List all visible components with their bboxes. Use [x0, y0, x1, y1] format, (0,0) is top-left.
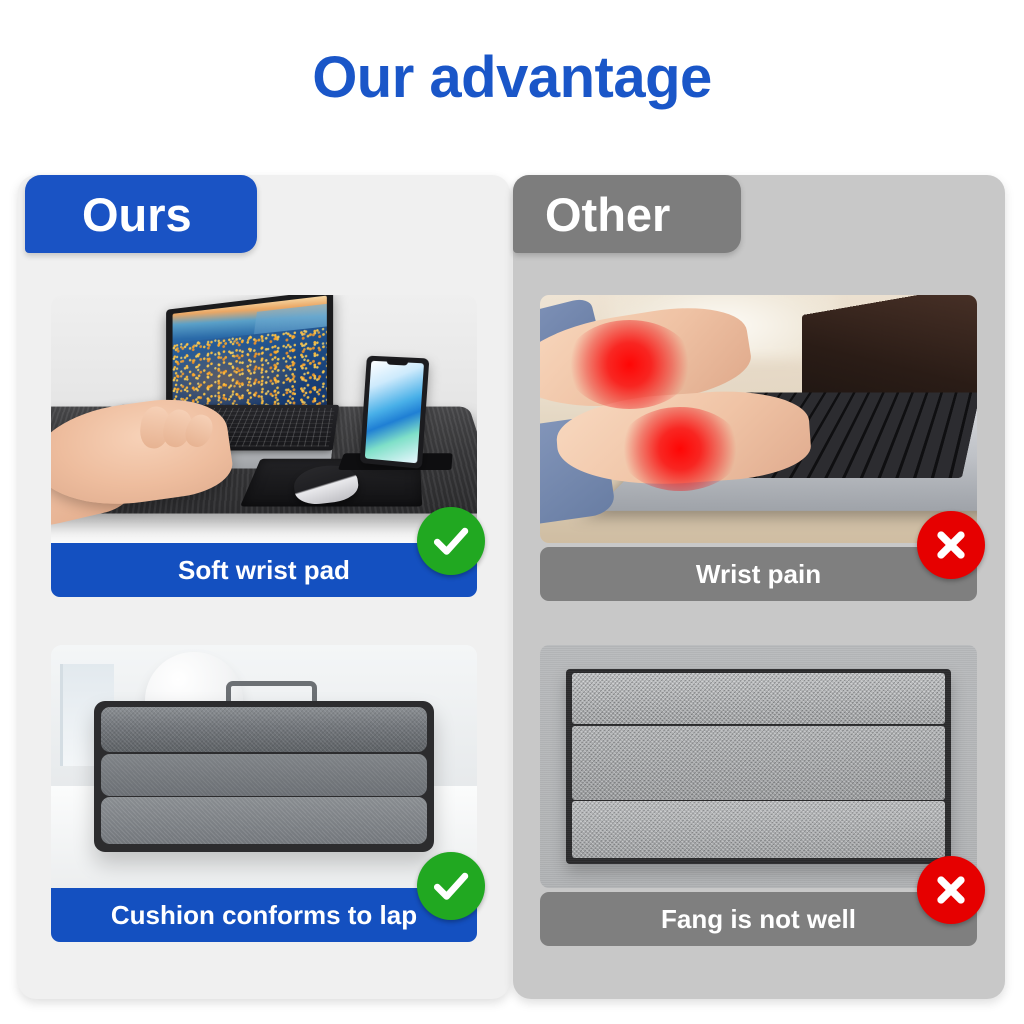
check-icon	[417, 507, 485, 575]
phone-screen	[365, 361, 424, 463]
badge-ours: Ours	[25, 175, 257, 253]
badge-other-label: Other	[545, 187, 670, 242]
card-other-fang-is-not-well[interactable]: Fang is not well	[540, 645, 977, 946]
cushion-pad-body	[94, 701, 435, 852]
caption-label: Soft wrist pad	[178, 555, 350, 586]
caption-label: Cushion conforms to lap	[111, 900, 417, 931]
photo-grain-overlay	[540, 645, 977, 888]
card-ours-cushion-conforms[interactable]: Cushion conforms to lap	[51, 645, 477, 942]
plain-grey-lap-pad-photo	[540, 645, 977, 888]
comparison-section: Ours	[18, 175, 1006, 999]
badge-other: Other	[513, 175, 741, 253]
cushion-roll-top	[101, 707, 427, 752]
phone-in-holder	[360, 356, 430, 469]
pain-highlight-icon	[566, 320, 693, 409]
caption-label: Fang is not well	[661, 904, 856, 935]
cushion-roll-middle	[101, 754, 427, 796]
cross-icon	[917, 856, 985, 924]
cushion-roll-bottom	[101, 797, 427, 844]
badge-ours-label: Ours	[82, 187, 192, 242]
wrist-pain-typing-photo	[540, 295, 977, 543]
card-ours-soft-wrist-pad[interactable]: Soft wrist pad	[51, 295, 477, 597]
phone-notch	[387, 359, 409, 365]
laptop-screen	[172, 295, 326, 417]
panel-ours: Ours	[18, 175, 510, 999]
pain-highlight-icon	[619, 407, 741, 491]
caption-bar-cushion-conforms: Cushion conforms to lap	[51, 888, 477, 942]
grey-cushion-lap-desk-photo	[51, 645, 477, 888]
caption-label: Wrist pain	[696, 559, 821, 590]
check-icon	[417, 852, 485, 920]
caption-bar-fang-is-not-well: Fang is not well	[540, 892, 977, 946]
caption-bar-soft-wrist-pad: Soft wrist pad	[51, 543, 477, 597]
page-title: Our advantage	[0, 46, 1024, 111]
card-other-wrist-pain[interactable]: Wrist pain	[540, 295, 977, 601]
panel-other: Other Wrist pain	[513, 175, 1005, 999]
caption-bar-wrist-pain: Wrist pain	[540, 547, 977, 601]
cross-icon	[917, 511, 985, 579]
lap-desk-with-laptop-photo	[51, 295, 477, 543]
